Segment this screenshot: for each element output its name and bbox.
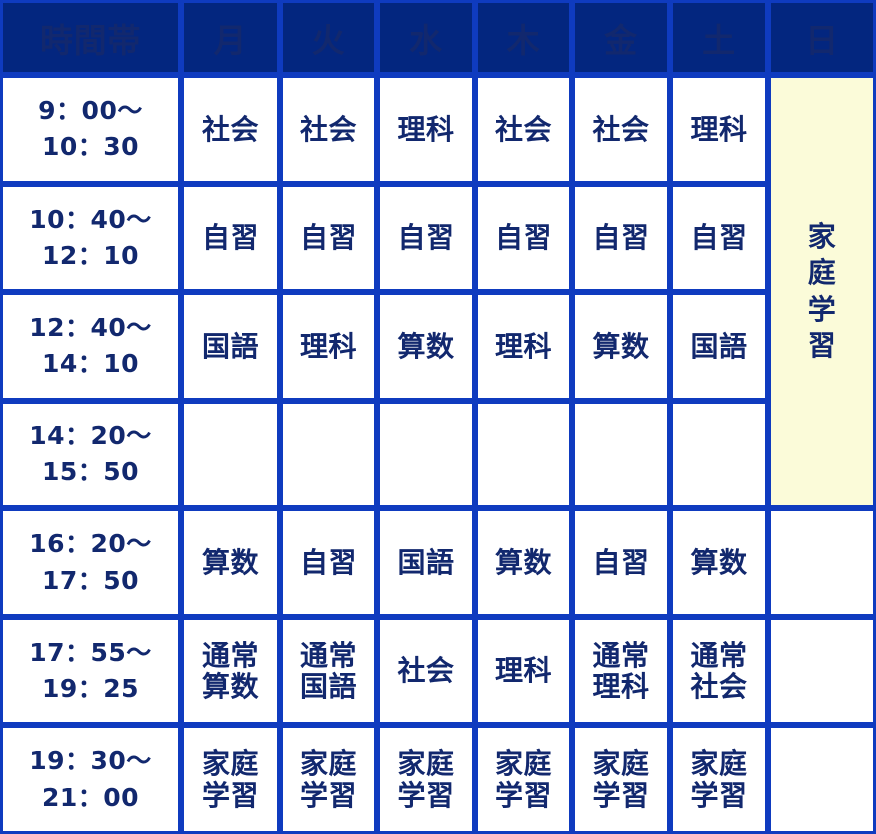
schedule-cell-mon[interactable]: 家庭学習 bbox=[181, 725, 280, 834]
subject-label: 自習 bbox=[575, 547, 667, 578]
time-slot-end: 12：10 bbox=[3, 238, 178, 274]
schedule-cell-tue[interactable]: 自習 bbox=[280, 508, 377, 617]
schedule-cell-wed[interactable]: 家庭学習 bbox=[377, 725, 475, 834]
time-slot-start: 9：00〜 bbox=[3, 93, 178, 129]
subject-label: 社会 bbox=[478, 114, 569, 145]
subject-label: 自習 bbox=[673, 222, 765, 253]
subject-label: 自習 bbox=[283, 222, 374, 253]
subject-label: 社会 bbox=[184, 114, 277, 145]
table-row: 17：55〜19：25通常算数通常国語社会理科通常理科通常社会 bbox=[0, 617, 876, 726]
time-slot-end: 21：00 bbox=[3, 780, 178, 816]
time-slot-cell: 19：30〜21：00 bbox=[0, 725, 181, 834]
schedule-cell-sun[interactable] bbox=[768, 725, 876, 834]
schedule-cell-sat[interactable]: 家庭学習 bbox=[670, 725, 768, 834]
time-slot-cell: 9：00〜10：30 bbox=[0, 75, 181, 184]
subject-label: 自習 bbox=[380, 222, 472, 253]
table-row: 16：20〜17：50算数自習国語算数自習算数 bbox=[0, 508, 876, 617]
time-slot-cell: 10：40〜12：10 bbox=[0, 184, 181, 293]
schedule-cell-sat[interactable]: 自習 bbox=[670, 184, 768, 293]
time-slot-end: 19：25 bbox=[3, 671, 178, 707]
subject-label: 家庭 bbox=[380, 748, 472, 779]
timetable: 時間帯 月 火 水 木 金 土 日 9：00〜10：30社会社会理科社会社会理科… bbox=[0, 0, 876, 834]
subject-label: 通常 bbox=[575, 640, 667, 671]
subject-label: 国語 bbox=[184, 331, 277, 362]
subject-label: 学習 bbox=[283, 780, 374, 811]
schedule-cell-sun[interactable] bbox=[768, 617, 876, 726]
subject-label: 算数 bbox=[184, 547, 277, 578]
schedule-cell-thu[interactable] bbox=[475, 401, 572, 509]
subject-label: 自習 bbox=[478, 222, 569, 253]
schedule-cell-sat[interactable] bbox=[670, 401, 768, 509]
schedule-cell-sat[interactable]: 国語 bbox=[670, 292, 768, 401]
time-slot-start: 10：40〜 bbox=[3, 202, 178, 238]
subject-label: 家庭 bbox=[673, 748, 765, 779]
time-slot-start: 17：55〜 bbox=[3, 635, 178, 671]
time-slot-start: 16：20〜 bbox=[3, 526, 178, 562]
table-row: 9：00〜10：30社会社会理科社会社会理科家庭学習 bbox=[0, 75, 876, 184]
schedule-cell-sat[interactable]: 算数 bbox=[670, 508, 768, 617]
schedule-cell-mon[interactable]: 算数 bbox=[181, 508, 280, 617]
subject-label: 算数 bbox=[380, 331, 472, 362]
schedule-cell-mon[interactable]: 通常算数 bbox=[181, 617, 280, 726]
subject-label: 理科 bbox=[673, 114, 765, 145]
column-header-fri: 金 bbox=[572, 0, 670, 75]
schedule-cell-thu[interactable]: 理科 bbox=[475, 292, 572, 401]
timetable-header: 時間帯 月 火 水 木 金 土 日 bbox=[0, 0, 876, 75]
subject-label: 理科 bbox=[380, 114, 472, 145]
schedule-cell-wed[interactable]: 国語 bbox=[377, 508, 475, 617]
subject-label: 学習 bbox=[478, 780, 569, 811]
subject-label: 通常 bbox=[184, 640, 277, 671]
column-header-tue: 火 bbox=[280, 0, 377, 75]
schedule-cell-wed[interactable]: 社会 bbox=[377, 617, 475, 726]
schedule-cell-sat[interactable]: 通常社会 bbox=[670, 617, 768, 726]
schedule-cell-fri[interactable]: 算数 bbox=[572, 292, 670, 401]
schedule-cell-tue[interactable]: 家庭学習 bbox=[280, 725, 377, 834]
subject-label: 家庭 bbox=[575, 748, 667, 779]
subject-label: 習 bbox=[771, 328, 873, 364]
time-slot-cell: 12：40〜14：10 bbox=[0, 292, 181, 401]
subject-label: 自習 bbox=[283, 547, 374, 578]
column-header-thu: 木 bbox=[475, 0, 572, 75]
subject-label: 算数 bbox=[575, 331, 667, 362]
subject-label: 自習 bbox=[575, 222, 667, 253]
subject-label: 算数 bbox=[184, 671, 277, 702]
schedule-cell-mon[interactable]: 国語 bbox=[181, 292, 280, 401]
schedule-cell-sun-merged[interactable]: 家庭学習 bbox=[768, 75, 876, 508]
column-header-mon: 月 bbox=[181, 0, 280, 75]
column-header-sat: 土 bbox=[670, 0, 768, 75]
schedule-cell-fri[interactable]: 家庭学習 bbox=[572, 725, 670, 834]
schedule-cell-fri[interactable]: 通常理科 bbox=[572, 617, 670, 726]
subject-label: 社会 bbox=[380, 655, 472, 686]
subject-label: 学習 bbox=[673, 780, 765, 811]
schedule-cell-wed[interactable]: 算数 bbox=[377, 292, 475, 401]
table-row: 14：20〜15：50 bbox=[0, 401, 876, 509]
time-slot-end: 15：50 bbox=[3, 454, 178, 490]
subject-label: 自習 bbox=[184, 222, 277, 253]
schedule-cell-fri[interactable]: 自習 bbox=[572, 508, 670, 617]
time-slot-end: 10：30 bbox=[3, 129, 178, 165]
subject-label: 国語 bbox=[673, 331, 765, 362]
schedule-cell-mon[interactable] bbox=[181, 401, 280, 509]
schedule-cell-sun[interactable] bbox=[768, 508, 876, 617]
subject-label: 家庭 bbox=[184, 748, 277, 779]
schedule-cell-tue[interactable]: 通常国語 bbox=[280, 617, 377, 726]
subject-label: 家 bbox=[771, 219, 873, 255]
subject-label: 家庭 bbox=[478, 748, 569, 779]
schedule-cell-thu[interactable]: 自習 bbox=[475, 184, 572, 293]
subject-label: 学 bbox=[771, 292, 873, 328]
table-row: 12：40〜14：10国語理科算数理科算数国語 bbox=[0, 292, 876, 401]
subject-label: 学習 bbox=[575, 780, 667, 811]
schedule-cell-thu[interactable]: 家庭学習 bbox=[475, 725, 572, 834]
schedule-cell-thu[interactable]: 社会 bbox=[475, 75, 572, 184]
time-slot-end: 17：50 bbox=[3, 563, 178, 599]
time-slot-start: 12：40〜 bbox=[3, 310, 178, 346]
subject-label: 社会 bbox=[575, 114, 667, 145]
subject-label: 算数 bbox=[673, 547, 765, 578]
schedule-cell-wed[interactable]: 理科 bbox=[377, 75, 475, 184]
schedule-cell-thu[interactable]: 理科 bbox=[475, 617, 572, 726]
subject-label: 国語 bbox=[283, 671, 374, 702]
schedule-cell-thu[interactable]: 算数 bbox=[475, 508, 572, 617]
subject-label: 算数 bbox=[478, 547, 569, 578]
column-header-time: 時間帯 bbox=[0, 0, 181, 75]
timetable-body: 9：00〜10：30社会社会理科社会社会理科家庭学習10：40〜12：10自習自… bbox=[0, 75, 876, 834]
subject-label: 家庭 bbox=[283, 748, 374, 779]
time-slot-end: 14：10 bbox=[3, 346, 178, 382]
subject-label: 理科 bbox=[478, 331, 569, 362]
time-slot-cell: 17：55〜19：25 bbox=[0, 617, 181, 726]
schedule-cell-fri[interactable] bbox=[572, 401, 670, 509]
time-slot-start: 19：30〜 bbox=[3, 743, 178, 779]
subject-label: 理科 bbox=[478, 655, 569, 686]
schedule-cell-mon[interactable]: 社会 bbox=[181, 75, 280, 184]
subject-label: 社会 bbox=[283, 114, 374, 145]
column-header-sun: 日 bbox=[768, 0, 876, 75]
table-row: 19：30〜21：00家庭学習家庭学習家庭学習家庭学習家庭学習家庭学習 bbox=[0, 725, 876, 834]
schedule-cell-wed[interactable] bbox=[377, 401, 475, 509]
schedule-cell-tue[interactable] bbox=[280, 401, 377, 509]
subject-label: 通常 bbox=[283, 640, 374, 671]
schedule-cell-mon[interactable]: 自習 bbox=[181, 184, 280, 293]
schedule-cell-tue[interactable]: 理科 bbox=[280, 292, 377, 401]
subject-label: 学習 bbox=[380, 780, 472, 811]
table-row: 10：40〜12：10自習自習自習自習自習自習 bbox=[0, 184, 876, 293]
schedule-cell-fri[interactable]: 自習 bbox=[572, 184, 670, 293]
subject-label: 社会 bbox=[673, 671, 765, 702]
time-slot-cell: 16：20〜17：50 bbox=[0, 508, 181, 617]
schedule-cell-sat[interactable]: 理科 bbox=[670, 75, 768, 184]
schedule-cell-fri[interactable]: 社会 bbox=[572, 75, 670, 184]
schedule-cell-wed[interactable]: 自習 bbox=[377, 184, 475, 293]
header-row: 時間帯 月 火 水 木 金 土 日 bbox=[0, 0, 876, 75]
subject-label: 庭 bbox=[771, 255, 873, 291]
subject-label: 理科 bbox=[575, 671, 667, 702]
subject-label: 通常 bbox=[673, 640, 765, 671]
subject-label: 国語 bbox=[380, 547, 472, 578]
time-slot-cell: 14：20〜15：50 bbox=[0, 401, 181, 509]
time-slot-start: 14：20〜 bbox=[3, 418, 178, 454]
schedule-cell-tue[interactable]: 自習 bbox=[280, 184, 377, 293]
column-header-wed: 水 bbox=[377, 0, 475, 75]
subject-label: 理科 bbox=[283, 331, 374, 362]
schedule-cell-tue[interactable]: 社会 bbox=[280, 75, 377, 184]
subject-label: 学習 bbox=[184, 780, 277, 811]
